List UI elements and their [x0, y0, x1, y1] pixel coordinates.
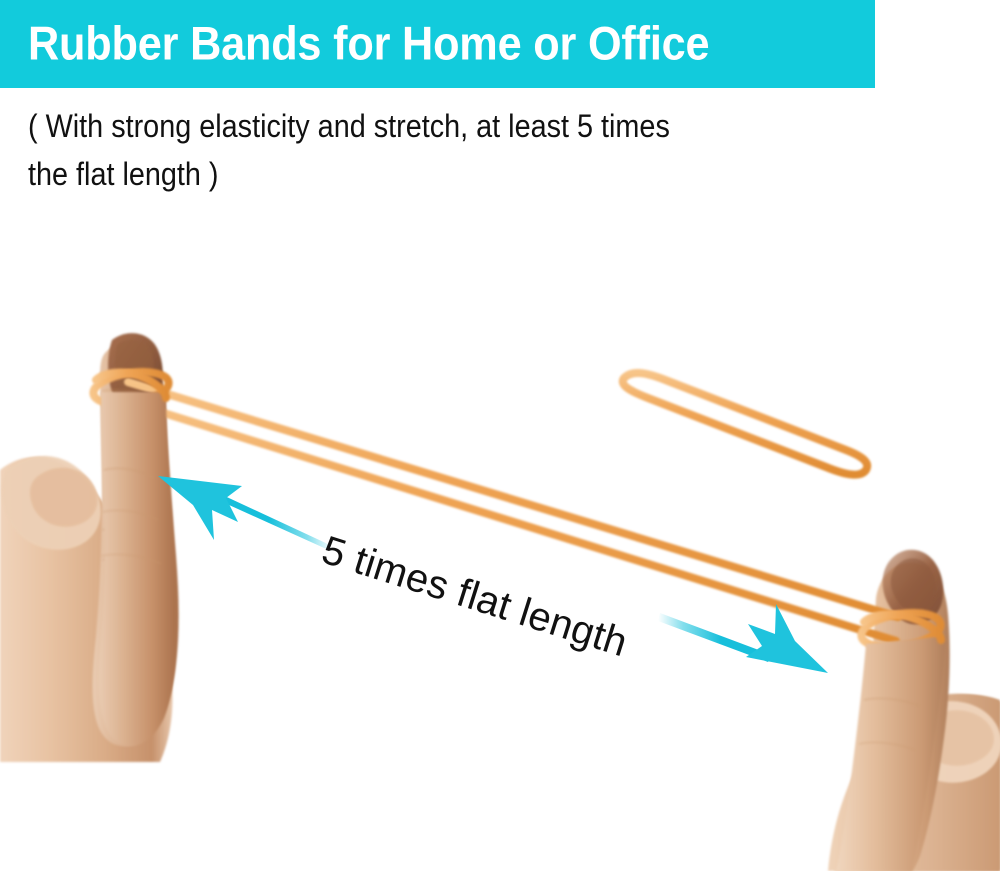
arrow-left: [158, 476, 333, 552]
illustration: [0, 0, 1000, 871]
relaxed-rubber-band: [623, 373, 867, 475]
product-image: Rubber Bands for Home or Office ( With s…: [0, 0, 1000, 871]
